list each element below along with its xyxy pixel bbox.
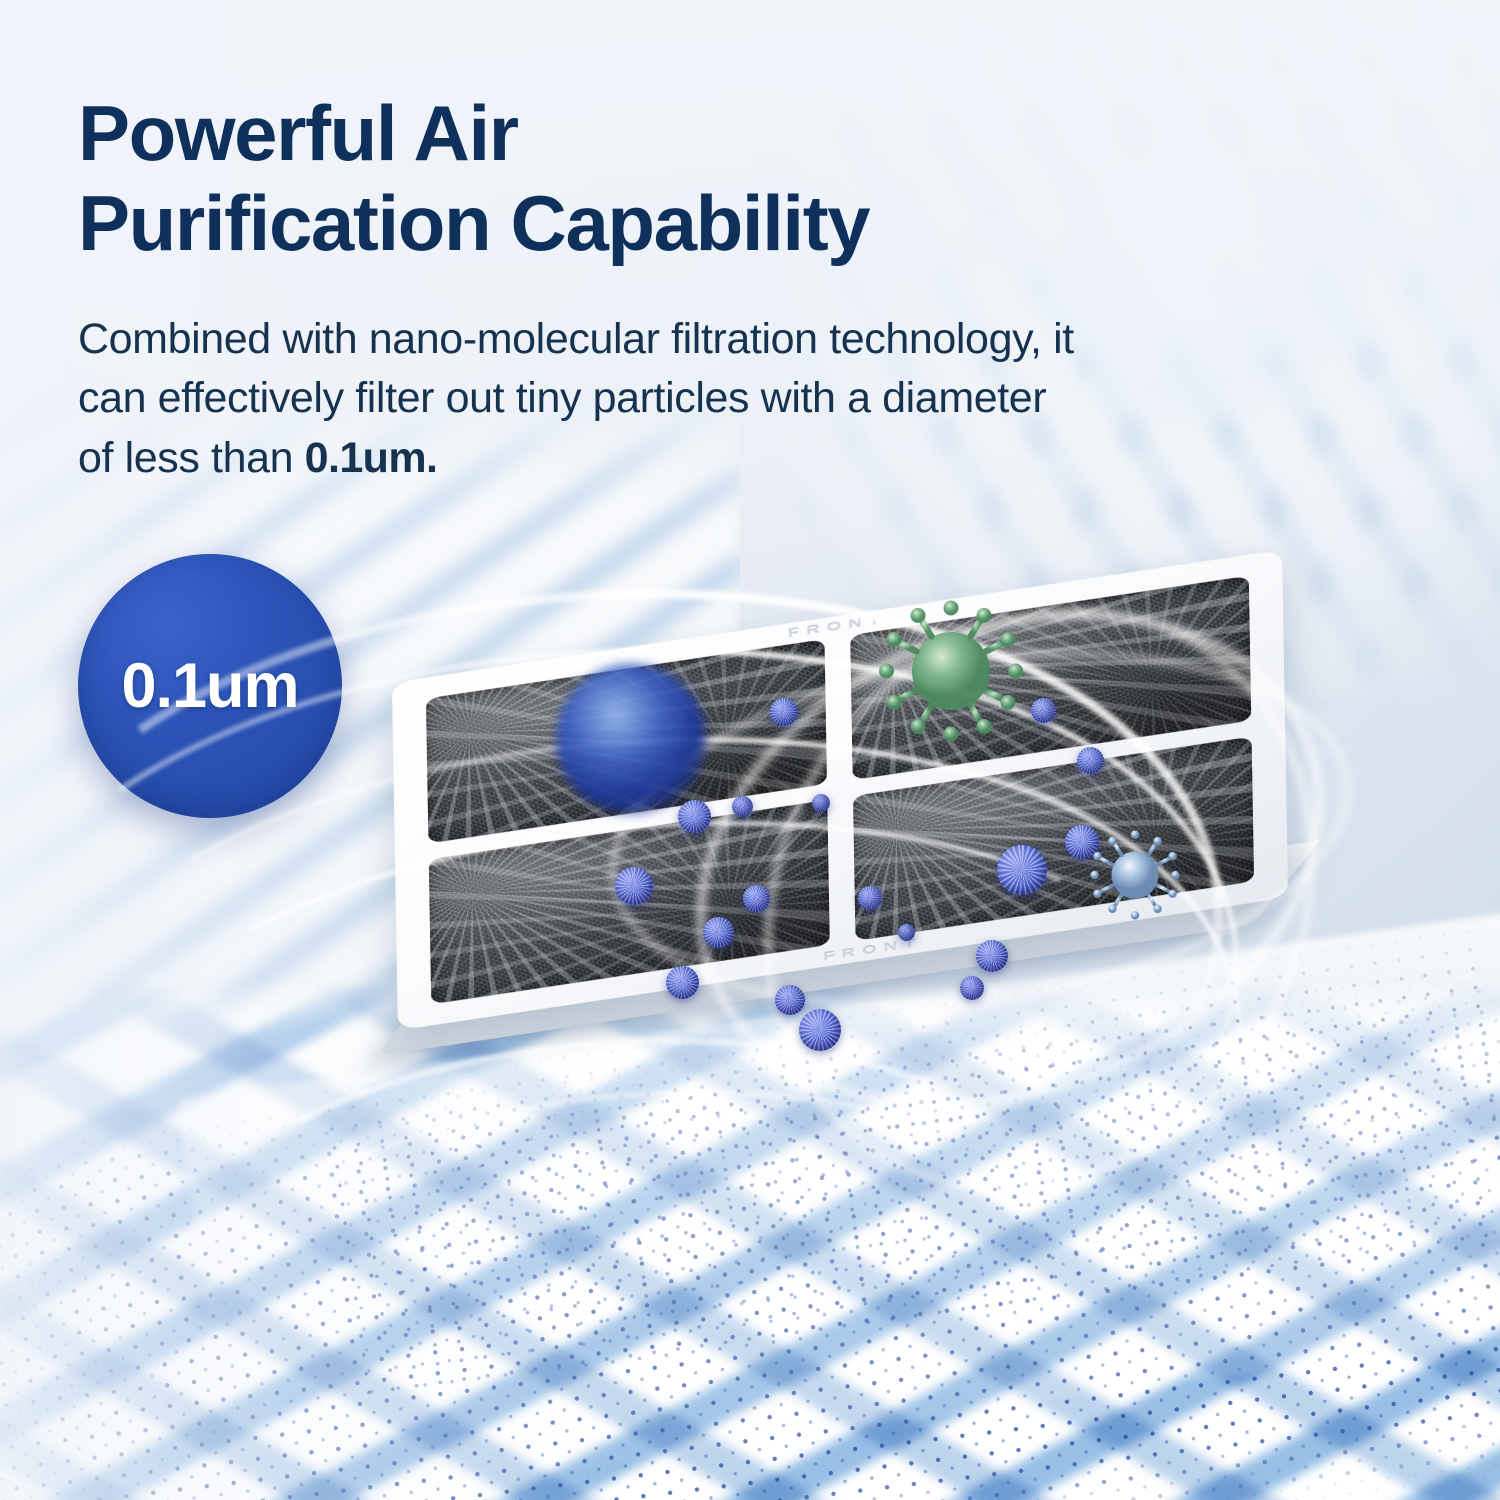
particle-blue-18: [960, 976, 984, 1000]
description-emphasis: 0.1um.: [305, 434, 438, 482]
particle-blue-11: [775, 985, 805, 1015]
particle-large-glow: [556, 664, 706, 814]
promo-banner: Powerful Air Purification Capability Com…: [0, 0, 1500, 1500]
particle-blue-08: [743, 885, 770, 912]
particle-blue-10: [666, 966, 699, 999]
particle-blue-06: [812, 794, 830, 812]
page-title: Powerful Air Purification Capability: [78, 88, 1138, 269]
particle-blue-17: [976, 940, 1008, 972]
particle-blue-15: [997, 845, 1047, 895]
particle-blue-09: [703, 917, 734, 948]
particle-size-badge-label: 0.1um: [121, 650, 298, 722]
particle-blue-13: [858, 886, 882, 910]
particle-virus-green: [876, 596, 1026, 746]
particle-blue-03: [770, 698, 798, 726]
particle-blue-14: [898, 924, 915, 941]
particle-blue-05: [1077, 747, 1104, 774]
particle-blue-02: [732, 796, 753, 817]
particle-blue-01: [678, 800, 711, 833]
description-lead: Combined with nano-molecular filtration …: [78, 315, 1074, 482]
particle-blue-04: [1031, 698, 1056, 723]
particle-blue-12: [799, 1009, 841, 1051]
particle-blue-07: [615, 867, 653, 905]
particle-size-badge: 0.1um: [78, 554, 342, 818]
particle-virus-pale: [1088, 828, 1182, 922]
description-text: Combined with nano-molecular filtration …: [78, 310, 1088, 488]
